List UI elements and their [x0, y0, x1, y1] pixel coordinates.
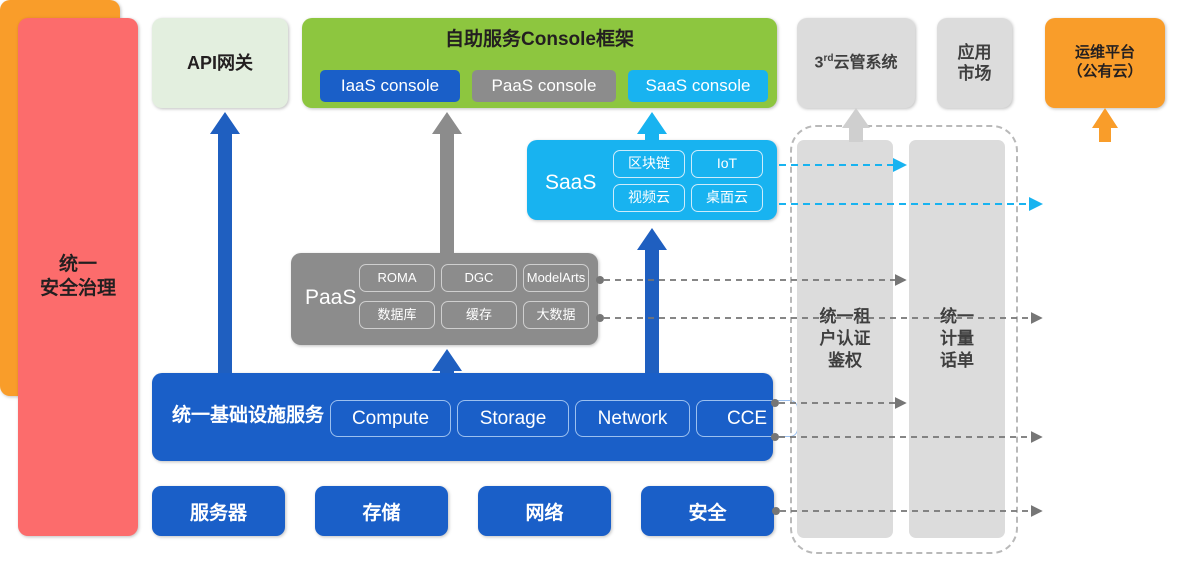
arrow-saas-to-console — [637, 112, 667, 140]
saas-console-button[interactable]: SaaS console — [628, 70, 768, 102]
arrow-paas-to-console — [432, 112, 462, 253]
app-market-line2: 市场 — [958, 63, 992, 84]
third-party-label: 3rd云管系统 — [815, 53, 898, 73]
saas-tag-iot[interactable]: IoT — [691, 150, 763, 178]
tenant-auth-label: 统一租 户认证 鉴权 — [820, 306, 871, 372]
paas-console-button[interactable]: PaaS console — [472, 70, 616, 102]
paas-tag-dgc[interactable]: DGC — [441, 264, 517, 292]
ops-platform-public-cloud-box: 运维平台 （公有云） — [1045, 18, 1165, 108]
infra-box-network[interactable]: 网络 — [478, 486, 611, 536]
arrow-iaas-to-paas — [432, 349, 462, 373]
self-service-console-framework: 自助服务Console框架 IaaS console PaaS console … — [302, 18, 777, 108]
governance-line1: 统一 — [40, 253, 116, 277]
unified-security-governance-panel: 统一 安全治理 — [18, 18, 138, 536]
ops-platform-line1: 运维平台 — [1067, 44, 1142, 63]
ops-platform-label: 运维平台 （公有云） — [1067, 44, 1142, 82]
architecture-diagram: 统一 安全治理 API网关 自助服务Console框架 IaaS console… — [0, 0, 1200, 574]
ops-platform-line2: （公有云） — [1067, 63, 1142, 82]
arrow-iaas-to-api-gateway — [210, 112, 240, 373]
saas-tag-desktop-cloud[interactable]: 桌面云 — [691, 184, 763, 212]
paas-tag-roma[interactable]: ROMA — [359, 264, 435, 292]
app-market-line1: 应用 — [958, 42, 992, 63]
arrow-to-ops-platform — [1092, 108, 1118, 142]
governance-label: 统一 安全治理 — [40, 253, 116, 301]
paas-label: PaaS — [305, 285, 356, 311]
app-market-label: 应用 市场 — [958, 42, 992, 85]
iaas-tag-compute[interactable]: Compute — [330, 400, 451, 437]
metering-label: 统一 计量 话单 — [940, 306, 974, 372]
unified-metering-billing-column: 统一 计量 话单 — [909, 140, 1005, 538]
infra-box-storage[interactable]: 存储 — [315, 486, 448, 536]
iaas-label: 统一基础设施服务 — [172, 404, 324, 428]
api-gateway-box: API网关 — [152, 18, 288, 108]
console-framework-title: 自助服务Console框架 — [302, 28, 777, 52]
paas-layer-box: PaaS ROMA DGC ModelArts 数据库 缓存 大数据 — [291, 253, 598, 345]
third-party-cloud-management-box: 3rd云管系统 — [797, 18, 915, 108]
paas-tag-cache[interactable]: 缓存 — [441, 301, 517, 329]
iaas-console-button[interactable]: IaaS console — [320, 70, 460, 102]
infra-box-security[interactable]: 安全 — [641, 486, 774, 536]
unified-tenant-auth-column: 统一租 户认证 鉴权 — [797, 140, 893, 538]
third-party-superscript: rd — [823, 53, 833, 64]
iaas-tag-cce[interactable]: CCE — [696, 400, 798, 437]
iaas-layer-box: 统一基础设施服务 Compute Storage Network CCE — [152, 373, 773, 461]
infra-box-server[interactable]: 服务器 — [152, 486, 285, 536]
paas-tag-database[interactable]: 数据库 — [359, 301, 435, 329]
saas-tag-blockchain[interactable]: 区块链 — [613, 150, 685, 178]
paas-tag-bigdata[interactable]: 大数据 — [523, 301, 589, 329]
governance-line2: 安全治理 — [40, 277, 116, 301]
iaas-tag-storage[interactable]: Storage — [457, 400, 569, 437]
application-market-box: 应用 市场 — [937, 18, 1012, 108]
saas-label: SaaS — [545, 170, 596, 196]
arrow-iaas-to-saas — [637, 228, 667, 373]
api-gateway-label: API网关 — [187, 52, 253, 75]
saas-layer-box: SaaS 区块链 IoT 视频云 桌面云 — [527, 140, 777, 220]
paas-tag-modelarts[interactable]: ModelArts — [523, 264, 589, 292]
iaas-tag-network[interactable]: Network — [575, 400, 690, 437]
saas-tag-video-cloud[interactable]: 视频云 — [613, 184, 685, 212]
